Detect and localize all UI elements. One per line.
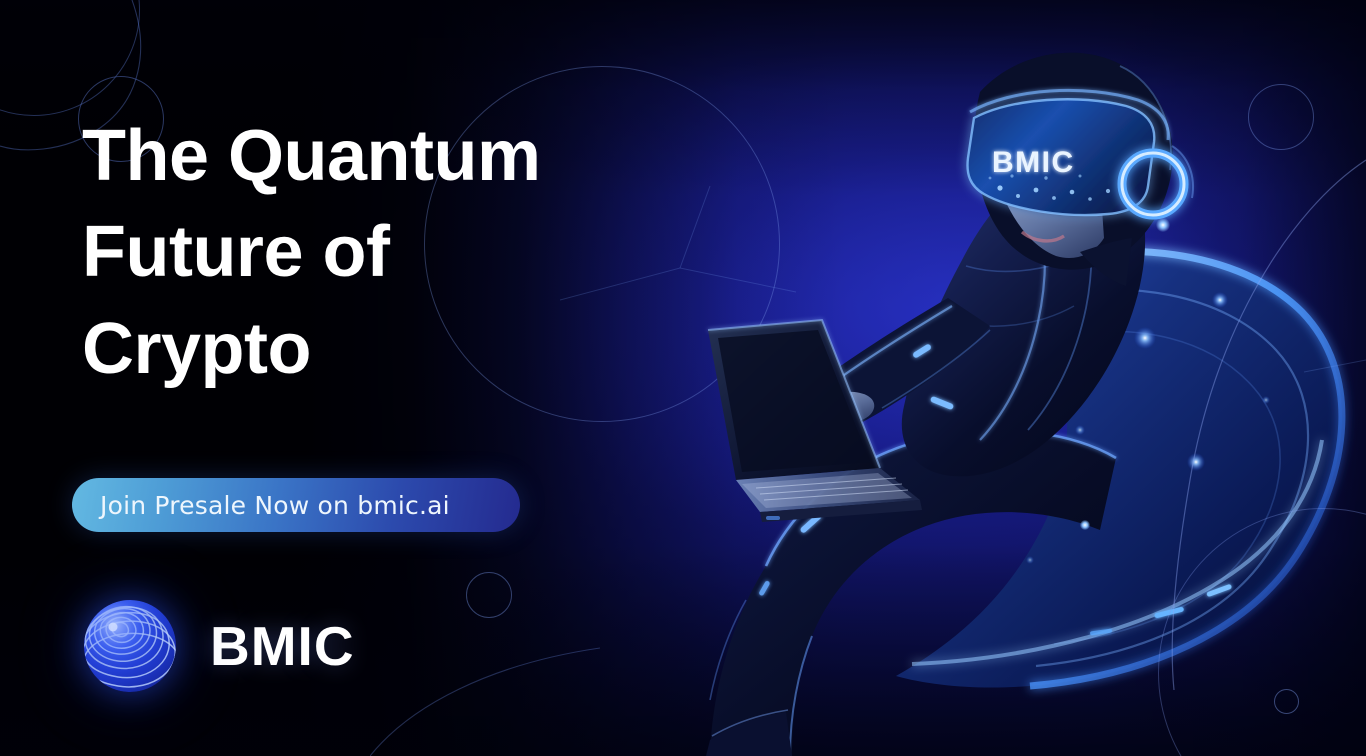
hero-copy: The Quantum Future of Crypto: [82, 108, 702, 397]
page-title: The Quantum Future of Crypto: [82, 108, 702, 397]
join-presale-label: Join Presale Now on bmic.ai: [100, 491, 450, 520]
hero-banner: BMIC The Quantum Future of Crypto Join P…: [0, 0, 1366, 756]
bmic-wordmark: BMIC: [210, 614, 355, 678]
deco-arc-right-sweep: [1040, 130, 1366, 690]
deco-circle-mid-left-small: [466, 572, 512, 618]
headline-line-3: Crypto: [82, 301, 702, 397]
brand-lockup[interactable]: BMIC: [84, 600, 355, 692]
headline-line-1: The Quantum: [82, 108, 702, 204]
headline-line-2: Future of: [82, 204, 702, 300]
join-presale-button[interactable]: Join Presale Now on bmic.ai: [72, 478, 520, 532]
bmic-sphere-logo-icon: [84, 600, 176, 692]
